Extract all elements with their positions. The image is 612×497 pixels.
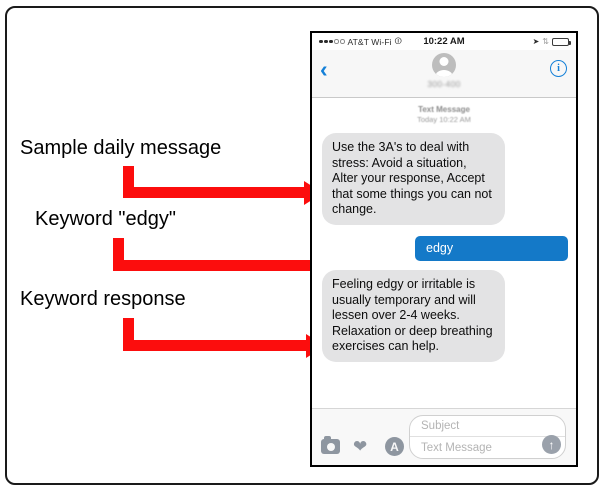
nav-bar: ‹ 300-400 i (312, 50, 576, 98)
thread-meta-time: Today 10:22 AM (320, 115, 568, 124)
message-composer: ❤ A Subject Text Message ↑ (312, 408, 576, 465)
annotation-label-keyword-edgy: Keyword "edgy" (35, 208, 176, 231)
app-store-icon[interactable]: A (385, 437, 404, 456)
thread-meta-type: Text Message (320, 105, 568, 114)
carrier-label: AT&T Wi-Fi (348, 37, 392, 47)
subject-input[interactable]: Subject (410, 416, 565, 437)
thread-meta: Text Message Today 10:22 AM (320, 105, 568, 124)
wifi-icon: ⏼ (395, 37, 402, 46)
status-bar-right: ➤ ⇅ (533, 37, 569, 46)
message-bubble-incoming-response[interactable]: Feeling edgy or irritable is usually tem… (322, 270, 505, 362)
bluetooth-icon: ⇅ (542, 37, 549, 46)
conversation-thread[interactable]: Text Message Today 10:22 AM Use the 3A's… (312, 98, 576, 432)
composer-fields: Subject Text Message ↑ (409, 415, 566, 459)
phone-screenshot: AT&T Wi-Fi ⏼ 10:22 AM ➤ ⇅ ‹ 300-400 i (310, 31, 578, 467)
contact-name: 300-400 (427, 79, 460, 89)
location-arrow-icon: ➤ (533, 37, 540, 46)
message-row-outgoing: edgy (320, 236, 568, 262)
contact-avatar-icon[interactable] (432, 53, 456, 77)
screenshot-canvas: Sample daily message Keyword "edgy" Keyw… (0, 0, 612, 497)
annotation-label-keyword-response: Keyword response (20, 288, 186, 311)
message-bubble-outgoing-keyword[interactable]: edgy (415, 236, 568, 262)
digital-touch-heart-icon[interactable]: ❤ (353, 438, 372, 455)
info-icon[interactable]: i (550, 60, 567, 77)
signal-strength-icon (319, 39, 345, 44)
annotation-arrow-sample-daily-message (123, 166, 323, 198)
status-bar-left: AT&T Wi-Fi ⏼ (319, 37, 402, 47)
composer-icon-row: ❤ A (321, 437, 404, 456)
send-arrow-icon[interactable]: ↑ (542, 435, 561, 454)
annotation-arrow-keyword-response (123, 318, 325, 350)
message-bubble-incoming-daily[interactable]: Use the 3A's to deal with stress: Avoid … (322, 133, 505, 225)
camera-icon[interactable] (321, 439, 340, 454)
contact-header[interactable]: 300-400 (312, 53, 576, 89)
annotation-label-sample-daily-message: Sample daily message (20, 137, 221, 160)
status-bar: AT&T Wi-Fi ⏼ 10:22 AM ➤ ⇅ (312, 33, 576, 50)
battery-icon (552, 38, 569, 46)
